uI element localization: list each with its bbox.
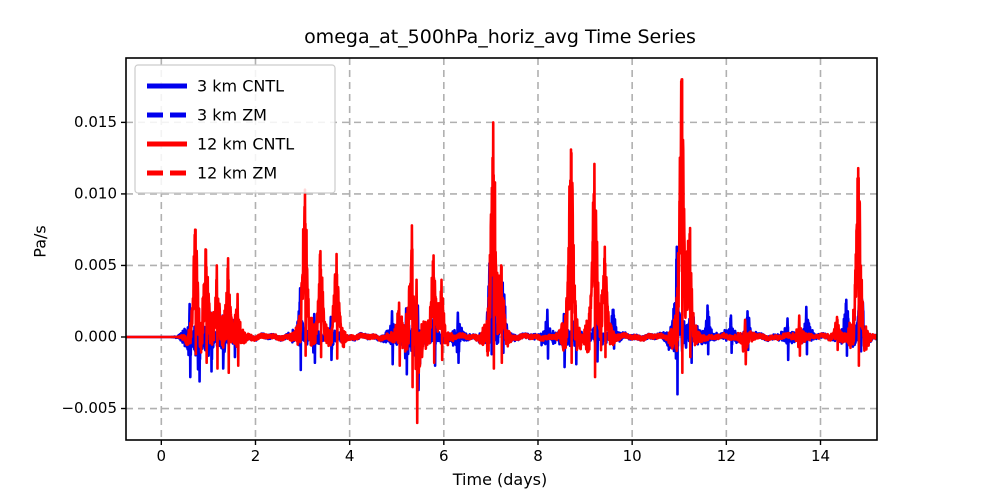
legend-label-12-km-zm: 12 km ZM bbox=[197, 164, 277, 183]
x-tick-label: 2 bbox=[251, 447, 261, 465]
y-tick-label: 0.000 bbox=[74, 327, 117, 345]
x-tick-label: 6 bbox=[439, 447, 449, 465]
x-tick-label: 10 bbox=[623, 447, 642, 465]
legend-label-12-km-cntl: 12 km CNTL bbox=[197, 135, 294, 154]
x-tick-label: 12 bbox=[717, 447, 736, 465]
legend-label-3-km-cntl: 3 km CNTL bbox=[197, 77, 284, 96]
x-tick-label: 4 bbox=[345, 447, 355, 465]
x-tick-label: 14 bbox=[811, 447, 830, 465]
x-tick-label: 0 bbox=[157, 447, 167, 465]
legend-label-3-km-zm: 3 km ZM bbox=[197, 106, 267, 125]
legend[interactable]: 3 km CNTL3 km ZM12 km CNTL12 km ZM bbox=[135, 65, 335, 193]
figure-canvas: omega_at_500hPa_horiz_avg Time Series Pa… bbox=[0, 0, 1000, 500]
y-tick-label: 0.005 bbox=[74, 256, 117, 274]
x-tick-label: 8 bbox=[533, 447, 543, 465]
y-tick-label: 0.010 bbox=[74, 184, 117, 202]
time-series-plot: 02468101214−0.0050.0000.0050.0100.015 3 … bbox=[0, 0, 1000, 500]
y-tick-label: −0.005 bbox=[61, 399, 117, 417]
y-tick-label: 0.015 bbox=[74, 113, 117, 131]
